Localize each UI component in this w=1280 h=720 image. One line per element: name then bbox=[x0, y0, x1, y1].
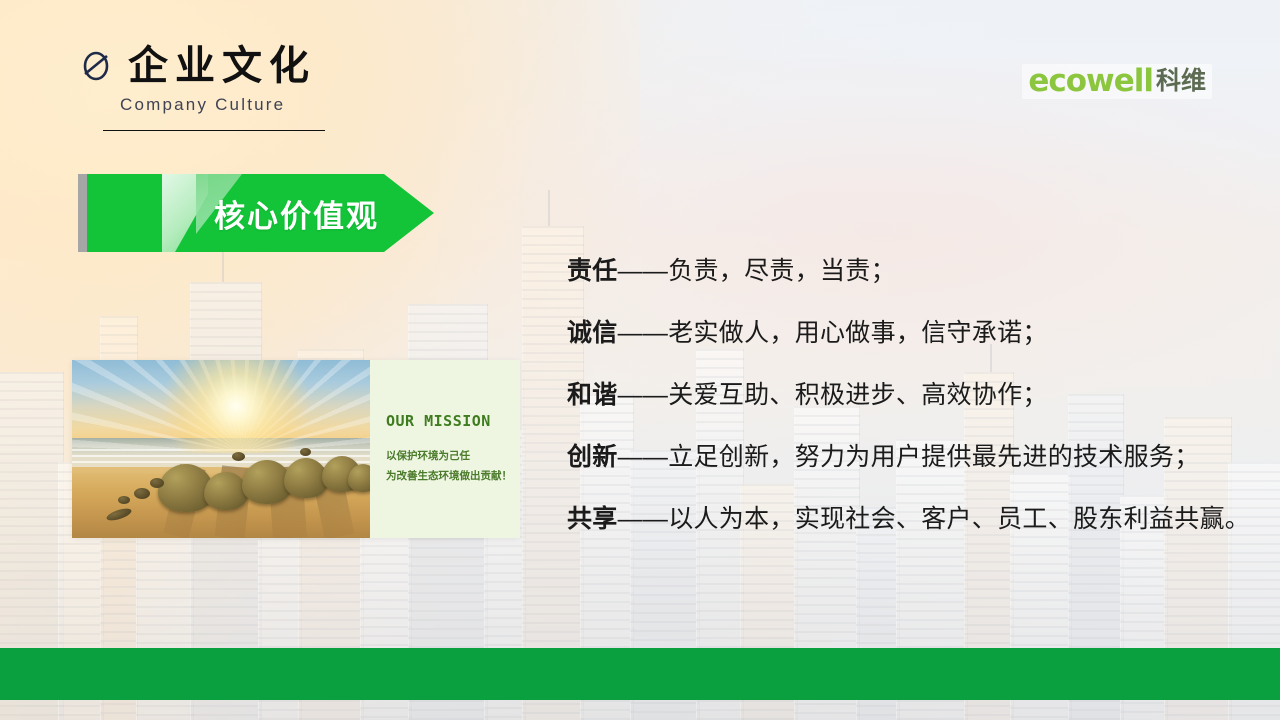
value-item-5: 共享 ——以人为本，实现社会、客户、员工、股东利益共赢。 bbox=[567, 486, 1250, 548]
banner-label: 核心价值观 bbox=[214, 174, 379, 252]
mission-photo bbox=[72, 360, 370, 538]
core-values-list: 责任 ——负责，尽责，当责； 诚信 ——老实做人，用心做事，信守承诺； 和谐 —… bbox=[567, 238, 1250, 548]
value-item-3: 和谐 ——关爱互助、积极进步、高效协作； bbox=[567, 362, 1250, 424]
core-values-banner: 核心价值观 bbox=[78, 174, 434, 252]
banner-left-tab bbox=[78, 174, 87, 252]
value-desc-3: ——关爱互助、积极进步、高效协作； bbox=[618, 375, 1048, 411]
mission-text-panel: OUR MISSION 以保护环境为己任 为改善生态环境做出贡献！ bbox=[370, 360, 520, 538]
page-title: 企业文化 bbox=[128, 46, 316, 86]
value-desc-1: ——负责，尽责，当责； bbox=[618, 251, 896, 287]
photo-sun bbox=[149, 360, 322, 453]
value-term-5: 共享 bbox=[567, 499, 618, 535]
value-desc-4: ——立足创新，努力为用户提供最先进的技术服务； bbox=[618, 437, 1200, 473]
circle-slash-icon bbox=[78, 48, 114, 84]
page-subtitle: Company Culture bbox=[120, 95, 316, 115]
value-desc-5: ——以人为本，实现社会、客户、员工、股东利益共赢。 bbox=[618, 499, 1251, 535]
value-item-4: 创新 ——立足创新，努力为用户提供最先进的技术服务； bbox=[567, 424, 1250, 486]
footer-bar bbox=[0, 648, 1280, 700]
value-term-3: 和谐 bbox=[567, 375, 618, 411]
value-term-4: 创新 bbox=[567, 437, 618, 473]
value-desc-2: ——老实做人，用心做事，信守承诺； bbox=[618, 313, 1048, 349]
value-term-1: 责任 bbox=[567, 251, 618, 287]
mission-card: OUR MISSION 以保护环境为己任 为改善生态环境做出贡献！ bbox=[72, 360, 520, 538]
value-term-2: 诚信 bbox=[567, 313, 618, 349]
brand-logo: ecowell 科维 bbox=[1022, 64, 1212, 99]
mission-line-1: 以保护环境为己任 bbox=[386, 446, 520, 466]
value-item-1: 责任 ——负责，尽责，当责； bbox=[567, 238, 1250, 300]
mission-line-2: 为改善生态环境做出贡献！ bbox=[386, 466, 520, 486]
header-underline bbox=[103, 130, 325, 131]
value-item-2: 诚信 ——老实做人，用心做事，信守承诺； bbox=[567, 300, 1250, 362]
slide-canvas: 企业文化 Company Culture ecowell 科维 核心价值观 bbox=[0, 0, 1280, 720]
logo-text-en: ecowell bbox=[1028, 66, 1153, 97]
mission-title: OUR MISSION bbox=[386, 412, 520, 430]
page-header: 企业文化 Company Culture bbox=[78, 46, 316, 115]
logo-text-cn: 科维 bbox=[1156, 69, 1206, 94]
